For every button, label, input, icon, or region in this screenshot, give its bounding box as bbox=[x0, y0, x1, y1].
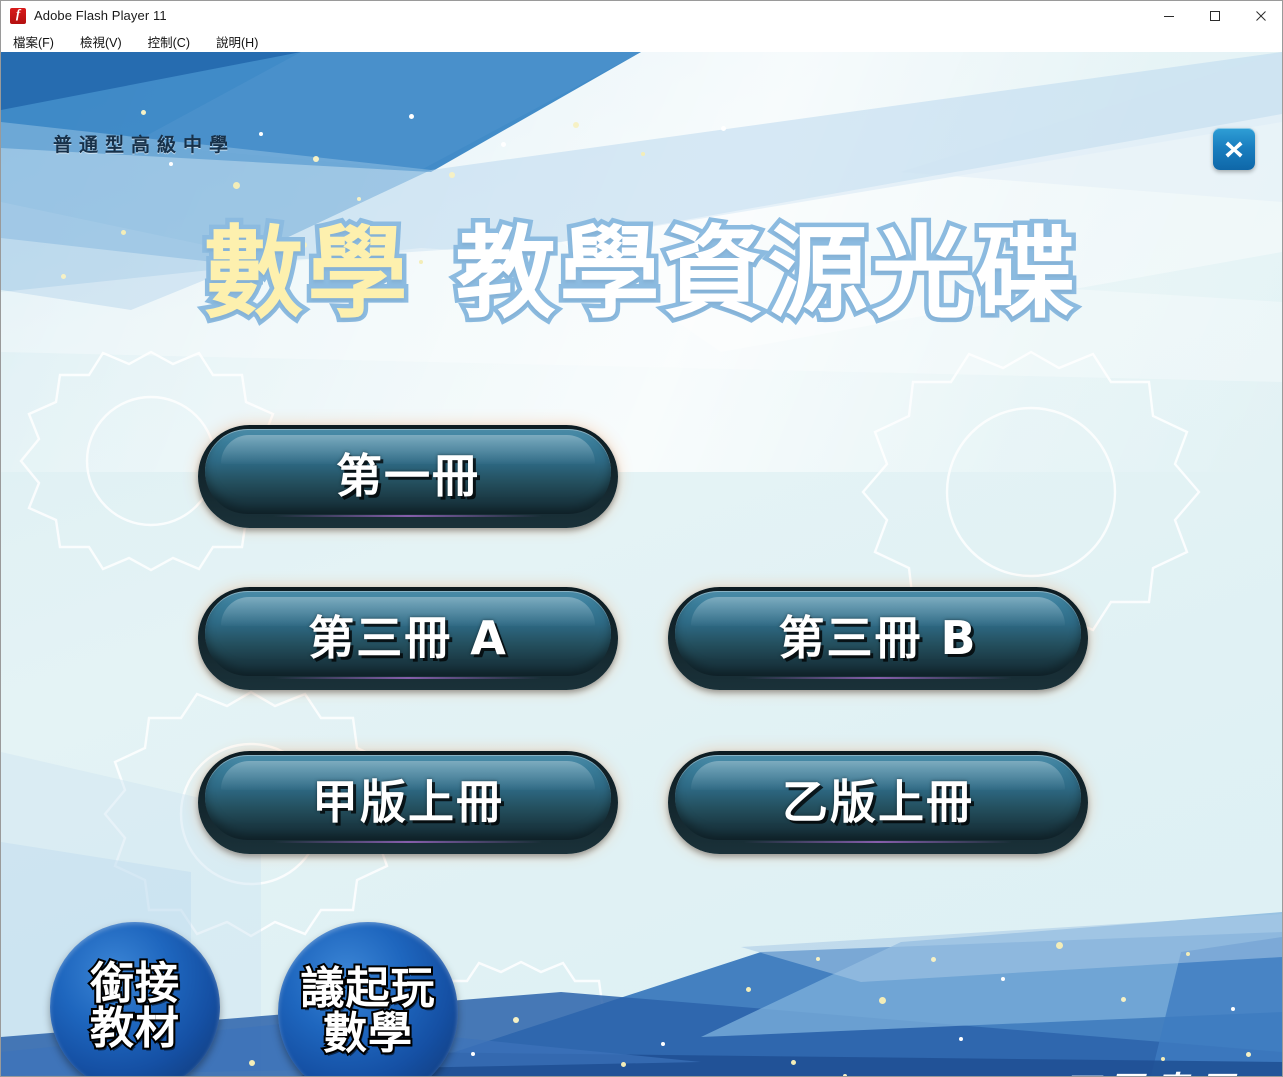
menu-bar: 檔案(F) 檢視(V) 控制(C) 說明(H) bbox=[1, 30, 1283, 52]
button-volume-3a[interactable]: 第三冊 A bbox=[198, 587, 618, 690]
button-underglow bbox=[274, 677, 543, 679]
play-math-line-1: 議起玩 bbox=[301, 967, 436, 1012]
button-underglow bbox=[274, 841, 543, 843]
bridging-line-2: 教材 bbox=[90, 1007, 180, 1052]
button-bridging-material-label: 銜接 教材 bbox=[90, 962, 180, 1052]
publisher-name: 三民書局 bbox=[1060, 1060, 1240, 1076]
button-jia-edition-upper[interactable]: 甲版上冊 bbox=[198, 751, 618, 854]
play-math-line-2: 數學 bbox=[301, 1012, 436, 1057]
close-x-icon bbox=[1221, 136, 1247, 162]
button-underglow bbox=[274, 515, 543, 517]
close-button[interactable] bbox=[1238, 1, 1283, 30]
window-titlebar[interactable]: Adobe Flash Player 11 bbox=[1, 1, 1283, 30]
button-volume-1-label: 第一冊 bbox=[198, 440, 618, 506]
button-play-math-label: 議起玩 數學 bbox=[301, 967, 436, 1057]
button-volume-1[interactable]: 第一冊 bbox=[198, 425, 618, 528]
menu-control[interactable]: 控制(C) bbox=[145, 31, 193, 52]
bridging-line-1: 銜接 bbox=[90, 962, 180, 1007]
stage-close-button[interactable] bbox=[1213, 128, 1255, 170]
dot-decorations bbox=[1, 52, 1282, 1076]
page-title-highlight: 數學 bbox=[204, 215, 412, 332]
window-controls bbox=[1146, 1, 1283, 30]
button-volume-3a-label: 第三冊 A bbox=[198, 602, 618, 668]
button-yi-edition-upper-label: 乙版上冊 bbox=[668, 766, 1088, 832]
menu-file[interactable]: 檔案(F) bbox=[10, 31, 57, 52]
button-volume-3b[interactable]: 第三冊 B bbox=[668, 587, 1088, 690]
menu-help[interactable]: 說明(H) bbox=[213, 31, 261, 52]
arch-logo-mark bbox=[956, 1067, 1048, 1076]
flash-icon bbox=[10, 8, 26, 24]
button-yi-edition-upper[interactable]: 乙版上冊 bbox=[668, 751, 1088, 854]
page-title: 數學教學資源光碟 bbox=[1, 220, 1282, 328]
button-underglow bbox=[744, 841, 1013, 843]
button-volume-3b-label: 第三冊 B bbox=[668, 602, 1088, 668]
subject-label: 普通型高級中學 bbox=[53, 130, 235, 157]
window-title: Adobe Flash Player 11 bbox=[34, 8, 167, 23]
minimize-button[interactable] bbox=[1146, 1, 1192, 30]
button-jia-edition-upper-label: 甲版上冊 bbox=[198, 766, 618, 832]
maximize-button[interactable] bbox=[1192, 1, 1238, 30]
menu-view[interactable]: 檢視(V) bbox=[77, 31, 125, 52]
flash-player-window: Adobe Flash Player 11 檔案(F) 檢視(V) 控制(C) … bbox=[0, 0, 1283, 1077]
publisher-logo: 三民書局 bbox=[956, 1060, 1240, 1076]
flash-stage: 普通型高級中學 數學教學資源光碟 第一冊 第三冊 A bbox=[1, 52, 1282, 1076]
button-underglow bbox=[744, 677, 1013, 679]
page-title-rest: 教學資源光碟 bbox=[456, 215, 1080, 332]
